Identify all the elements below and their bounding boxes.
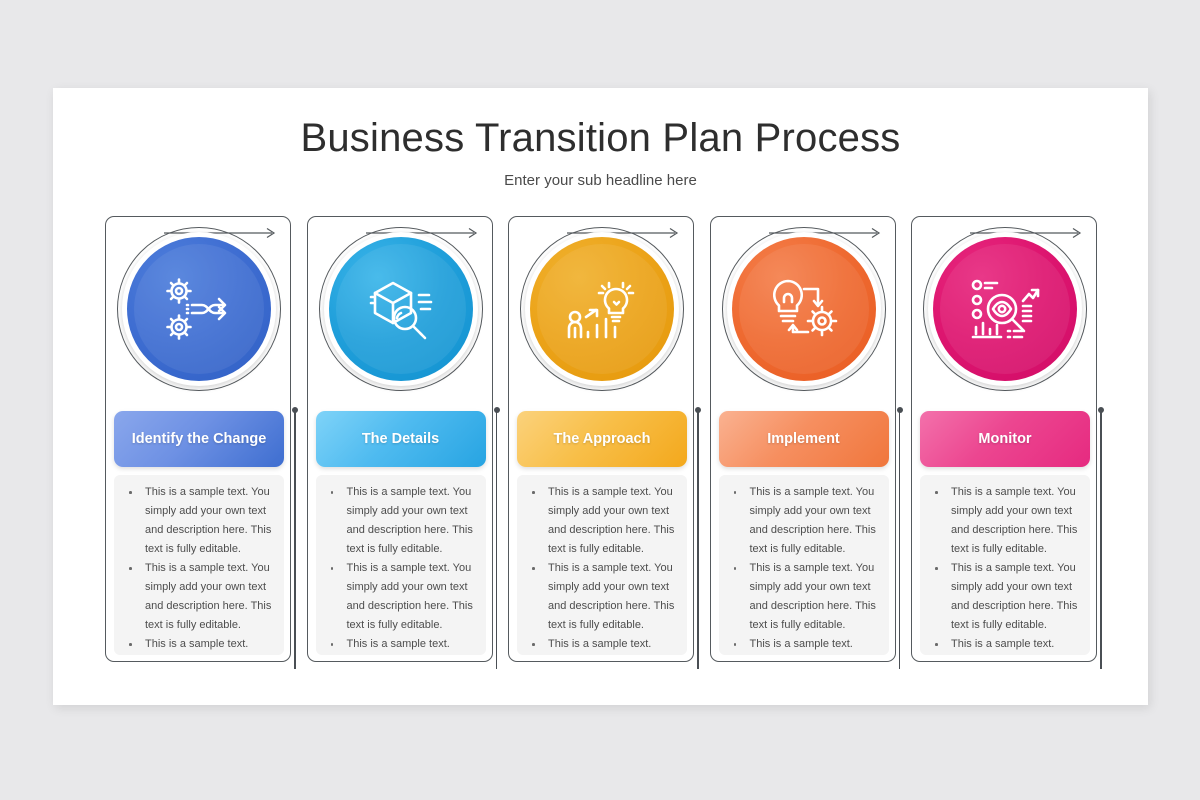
list-item: This is a sample text. You simply add yo…	[723, 559, 883, 635]
step-icon-circle	[329, 237, 473, 381]
step-banner: The Details	[316, 411, 486, 467]
page-subtitle: Enter your sub headline here	[53, 172, 1148, 189]
step-label: Monitor	[978, 431, 1031, 447]
list-item: This is a sample text. You simply add yo…	[320, 559, 480, 635]
step-bullet-list: This is a sample text. You simply add yo…	[521, 483, 681, 654]
step-body-panel: This is a sample text. You simply add yo…	[920, 475, 1090, 655]
step-icon-circle	[933, 237, 1077, 381]
step-bullet-list: This is a sample text. You simply add yo…	[723, 483, 883, 654]
step-body-panel: This is a sample text. You simply add yo…	[517, 475, 687, 655]
connector-pin	[896, 407, 904, 669]
process-step-list: Identify the Change This is a sample tex…	[105, 216, 1097, 666]
list-item: This is a sample text. You simply add yo…	[521, 483, 681, 559]
connector-pin	[694, 407, 702, 669]
lightbulb-gear-cycle-icon	[768, 276, 840, 342]
process-step-card[interactable]: Identify the Change This is a sample tex…	[105, 216, 291, 662]
list-item: This is a sample text. You simply add yo…	[118, 483, 278, 559]
page-title: Business Transition Plan Process	[53, 116, 1148, 161]
connector-line	[1100, 412, 1101, 669]
connector-line	[697, 412, 698, 669]
connector-line	[294, 412, 295, 669]
step-body-panel: This is a sample text. You simply add yo…	[114, 475, 284, 655]
eye-analytics-magnifier-icon	[968, 276, 1042, 342]
step-banner: Identify the Change	[114, 411, 284, 467]
step-body-panel: This is a sample text. You simply add yo…	[719, 475, 889, 655]
step-icon-area	[308, 223, 494, 407]
step-icon-area	[106, 223, 292, 407]
list-item: This is a sample text.	[320, 635, 480, 654]
step-icon-circle	[530, 237, 674, 381]
step-label: The Approach	[554, 431, 651, 447]
step-icon-area	[711, 223, 897, 407]
slide-panel: Business Transition Plan Process Enter y…	[53, 88, 1148, 705]
step-icon-area	[509, 223, 695, 407]
list-item: This is a sample text. You simply add yo…	[924, 559, 1084, 635]
connector-pin	[1097, 407, 1105, 669]
step-body-panel: This is a sample text. You simply add yo…	[316, 475, 486, 655]
gears-shuffle-arrows-icon	[163, 275, 235, 343]
list-item: This is a sample text. You simply add yo…	[118, 559, 278, 635]
list-item: This is a sample text. You simply add yo…	[924, 483, 1084, 559]
step-label: Implement	[767, 431, 840, 447]
process-step-card[interactable]: The Approach This is a sample text. You …	[508, 216, 694, 662]
list-item: This is a sample text.	[118, 635, 278, 654]
person-chart-lightbulb-icon	[565, 275, 639, 343]
list-item: This is a sample text.	[521, 635, 681, 654]
step-banner: The Approach	[517, 411, 687, 467]
connector-line	[496, 412, 497, 669]
step-icon-circle	[127, 237, 271, 381]
connector-line	[899, 412, 900, 669]
list-item: This is a sample text. You simply add yo…	[723, 483, 883, 559]
step-label: Identify the Change	[132, 431, 267, 447]
connector-pin	[493, 407, 501, 669]
step-banner: Implement	[719, 411, 889, 467]
list-item: This is a sample text.	[924, 635, 1084, 654]
step-bullet-list: This is a sample text. You simply add yo…	[320, 483, 480, 654]
box-magnifier-icon	[365, 276, 437, 342]
list-item: This is a sample text.	[723, 635, 883, 654]
process-step-card[interactable]: The Details This is a sample text. You s…	[307, 216, 493, 662]
process-step-card[interactable]: Implement This is a sample text. You sim…	[710, 216, 896, 662]
step-icon-area	[912, 223, 1098, 407]
list-item: This is a sample text. You simply add yo…	[320, 483, 480, 559]
list-item: This is a sample text. You simply add yo…	[521, 559, 681, 635]
step-bullet-list: This is a sample text. You simply add yo…	[924, 483, 1084, 654]
connector-pin	[291, 407, 299, 669]
step-icon-circle	[732, 237, 876, 381]
step-banner: Monitor	[920, 411, 1090, 467]
step-bullet-list: This is a sample text. You simply add yo…	[118, 483, 278, 654]
process-step-card[interactable]: Monitor This is a sample text. You simpl…	[911, 216, 1097, 662]
step-label: The Details	[362, 431, 439, 447]
